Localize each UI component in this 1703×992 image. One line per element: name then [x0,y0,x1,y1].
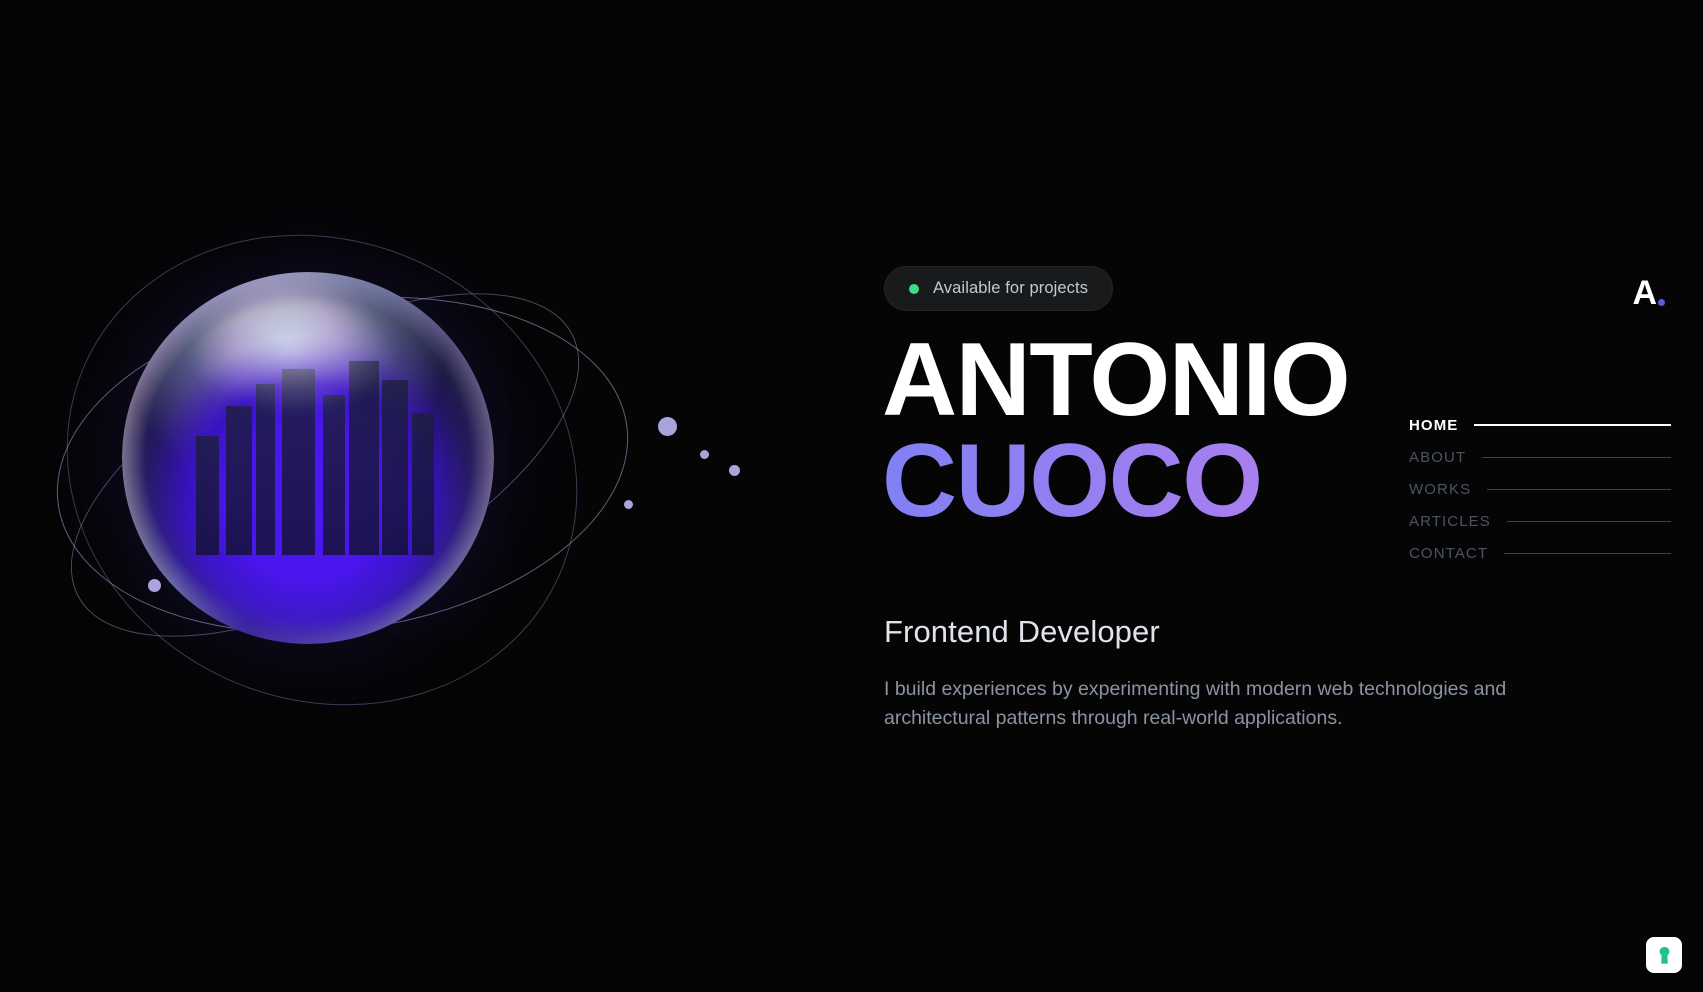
sphere-body [122,272,494,644]
privacy-badge-button[interactable] [1646,937,1682,973]
nav-item-about[interactable]: ABOUT [1409,441,1671,473]
logo-dot-icon [1658,299,1665,306]
nav-label: WORKS [1409,481,1471,498]
site-logo[interactable]: A [1632,276,1665,310]
bubble-sphere [122,272,494,644]
main-navigation: HOME ABOUT WORKS ARTICLES CONTACT [1409,409,1671,569]
about-description: I build experiences by experimenting wit… [884,675,1544,733]
floating-particle [658,417,677,436]
floating-particle [624,500,633,509]
nav-label: HOME [1409,417,1458,434]
logo-letter: A [1632,276,1657,310]
role-subtitle: Frontend Developer [884,614,1160,650]
nav-line [1487,489,1671,490]
nav-line [1507,521,1671,522]
sphere-highlight [189,302,397,414]
floating-particle [148,579,161,592]
nav-line [1482,457,1671,458]
nav-label: ARTICLES [1409,513,1491,530]
floating-particle [729,465,740,476]
page-root: Available for projects ANTONIO CUOCO Fro… [0,0,1703,992]
nav-item-contact[interactable]: CONTACT [1409,537,1671,569]
keyhole-icon [1657,946,1672,965]
nav-item-works[interactable]: WORKS [1409,473,1671,505]
availability-badge[interactable]: Available for projects [884,266,1113,311]
availability-label: Available for projects [933,279,1088,298]
hero-artwork [0,0,740,992]
status-dot [909,284,919,294]
nav-line [1504,553,1671,554]
nav-line [1474,424,1671,426]
nav-label: CONTACT [1409,545,1488,562]
nav-item-articles[interactable]: ARTICLES [1409,505,1671,537]
nav-label: ABOUT [1409,449,1466,466]
floating-particle [700,450,709,459]
nav-item-home[interactable]: HOME [1409,409,1671,441]
